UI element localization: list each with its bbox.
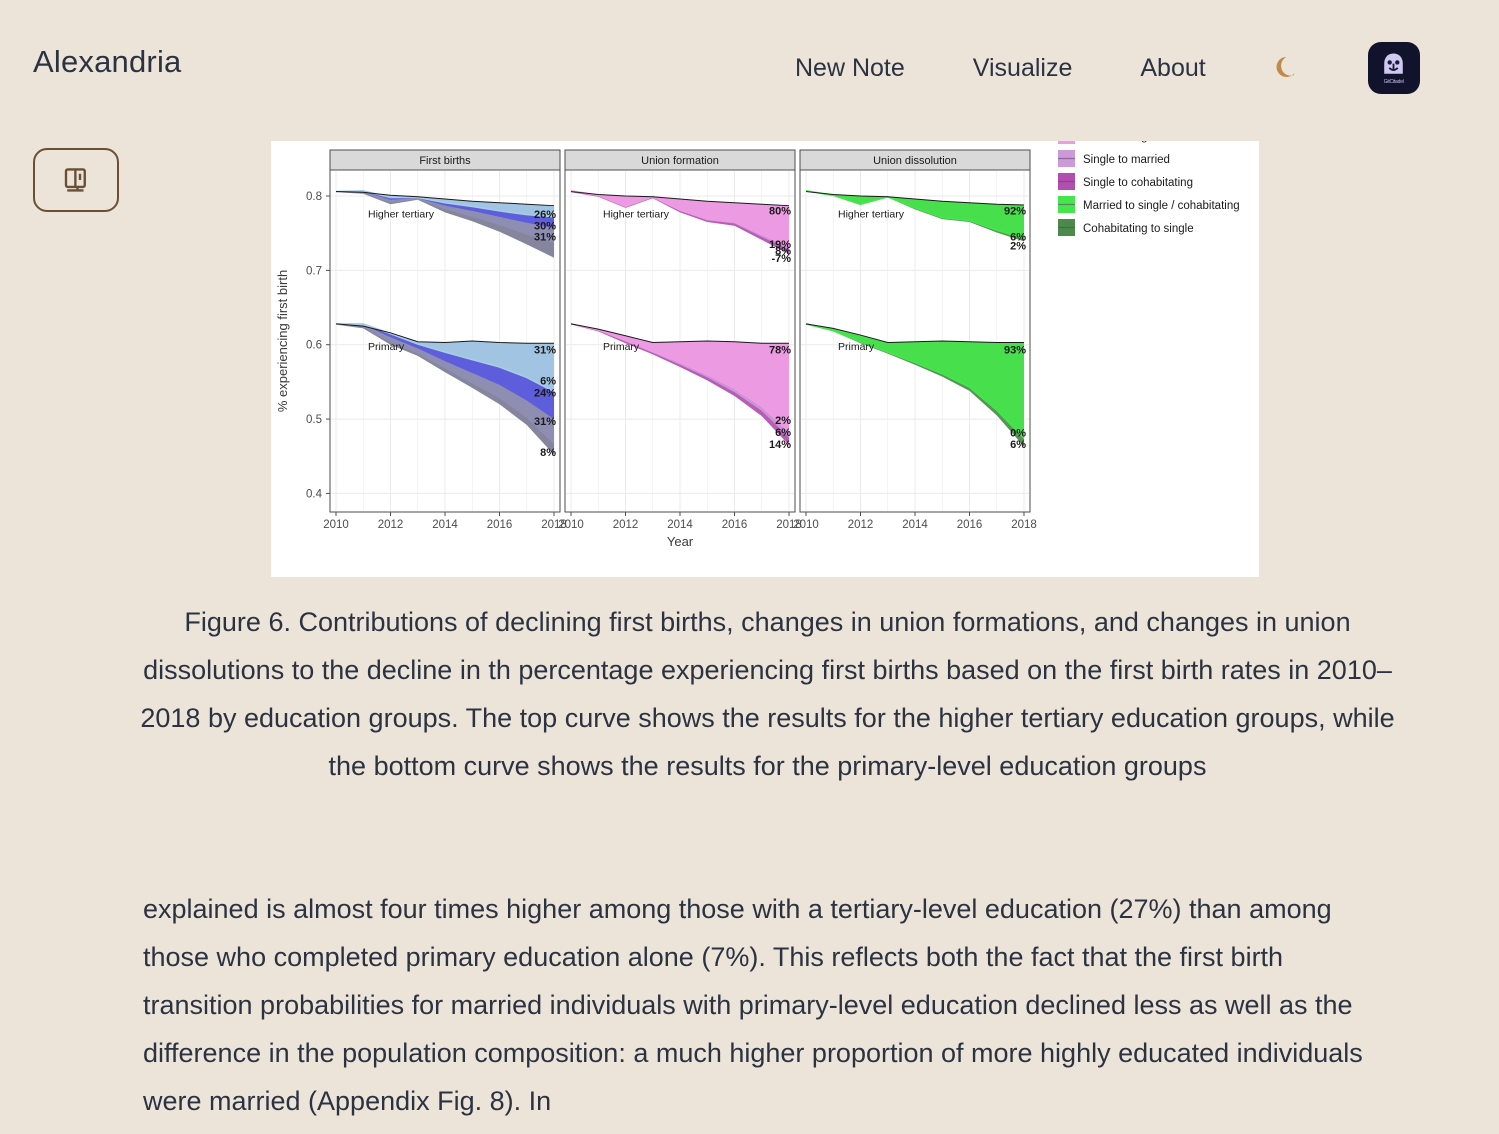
x-tick-label: 2012 (848, 519, 874, 531)
group-label: Higher tertiary (603, 209, 670, 221)
figure-image-container: First birthsHigher tertiary26%30%31%Prim… (271, 141, 1259, 577)
main-nav: New Note Visualize About GitCitadel (795, 42, 1420, 94)
value-annotation: -7% (771, 253, 791, 265)
gitcitadel-logo-icon (1380, 51, 1407, 78)
value-annotation: 92% (1004, 205, 1026, 217)
x-tick-label: 2010 (793, 519, 819, 531)
app-brand-title[interactable]: Alexandria (33, 44, 181, 80)
group-label: Higher tertiary (368, 209, 435, 221)
nav-item-about[interactable]: About (1140, 54, 1205, 83)
value-annotation: 31% (534, 231, 556, 243)
legend-label: Single to cohabitating (1083, 177, 1193, 189)
value-annotation: 6% (540, 376, 556, 388)
x-tick-label: 2012 (378, 519, 404, 531)
book-icon (61, 165, 91, 195)
legend-label: Cohabitating to married (1083, 141, 1203, 143)
y-tick-label: 0.5 (306, 414, 322, 426)
x-tick-label: 2016 (722, 519, 748, 531)
x-tick-label: 2014 (667, 519, 693, 531)
group-label: Primary (603, 341, 640, 353)
group-label: Primary (368, 341, 405, 353)
value-annotation: 8% (540, 447, 556, 459)
group-label: Higher tertiary (838, 209, 905, 221)
y-tick-label: 0.8 (306, 191, 322, 203)
legend-label: Cohabitating to single (1083, 223, 1194, 235)
panel-title: Union formation (641, 155, 719, 167)
value-annotation: 24% (534, 388, 556, 400)
x-tick-label: 2018 (1011, 519, 1037, 531)
panel-title: Union dissolution (873, 155, 957, 167)
library-button[interactable] (33, 148, 119, 212)
nav-item-visualize[interactable]: Visualize (973, 54, 1073, 83)
group-label: Primary (838, 341, 875, 353)
x-tick-label: 2010 (323, 519, 349, 531)
legend-label: Single to married (1083, 154, 1170, 166)
x-tick-label: 2010 (558, 519, 584, 531)
figure-caption: Figure 6. Contributions of declining fir… (140, 598, 1395, 790)
avatar-label: GitCitadel (1384, 79, 1404, 85)
x-tick-label: 2016 (487, 519, 513, 531)
legend-swatch (1058, 141, 1075, 144)
avatar[interactable]: GitCitadel (1368, 42, 1420, 94)
top-navigation-bar: Alexandria New Note Visualize About GitC… (0, 0, 1499, 128)
y-tick-label: 0.6 (306, 340, 322, 352)
x-axis-title: Year (667, 534, 694, 549)
value-annotation: 14% (769, 439, 791, 451)
value-annotation: 2% (775, 415, 791, 427)
moon-icon[interactable] (1266, 48, 1306, 88)
body-paragraph: explained is almost four times higher am… (143, 885, 1389, 1125)
multi-panel-area-chart: First birthsHigher tertiary26%30%31%Prim… (271, 141, 1259, 577)
value-annotation: 2% (1010, 240, 1026, 252)
panel-title: First births (419, 155, 471, 167)
nav-item-new-note[interactable]: New Note (795, 54, 905, 83)
y-tick-label: 0.4 (306, 488, 323, 500)
x-tick-label: 2012 (613, 519, 639, 531)
y-tick-label: 0.7 (306, 265, 322, 277)
legend-label: Married to single / cohabitating (1083, 200, 1240, 212)
y-axis-title: % experiencing first birth (275, 270, 290, 412)
value-annotation: 80% (769, 205, 791, 217)
value-annotation: 78% (769, 344, 791, 356)
x-tick-label: 2014 (902, 519, 928, 531)
x-tick-label: 2016 (957, 519, 983, 531)
value-annotation: 31% (534, 344, 556, 356)
x-tick-label: 2014 (432, 519, 458, 531)
value-annotation: 31% (534, 416, 556, 428)
value-annotation: 93% (1004, 344, 1026, 356)
value-annotation: 6% (1010, 439, 1026, 451)
value-annotation: 6% (775, 427, 791, 439)
